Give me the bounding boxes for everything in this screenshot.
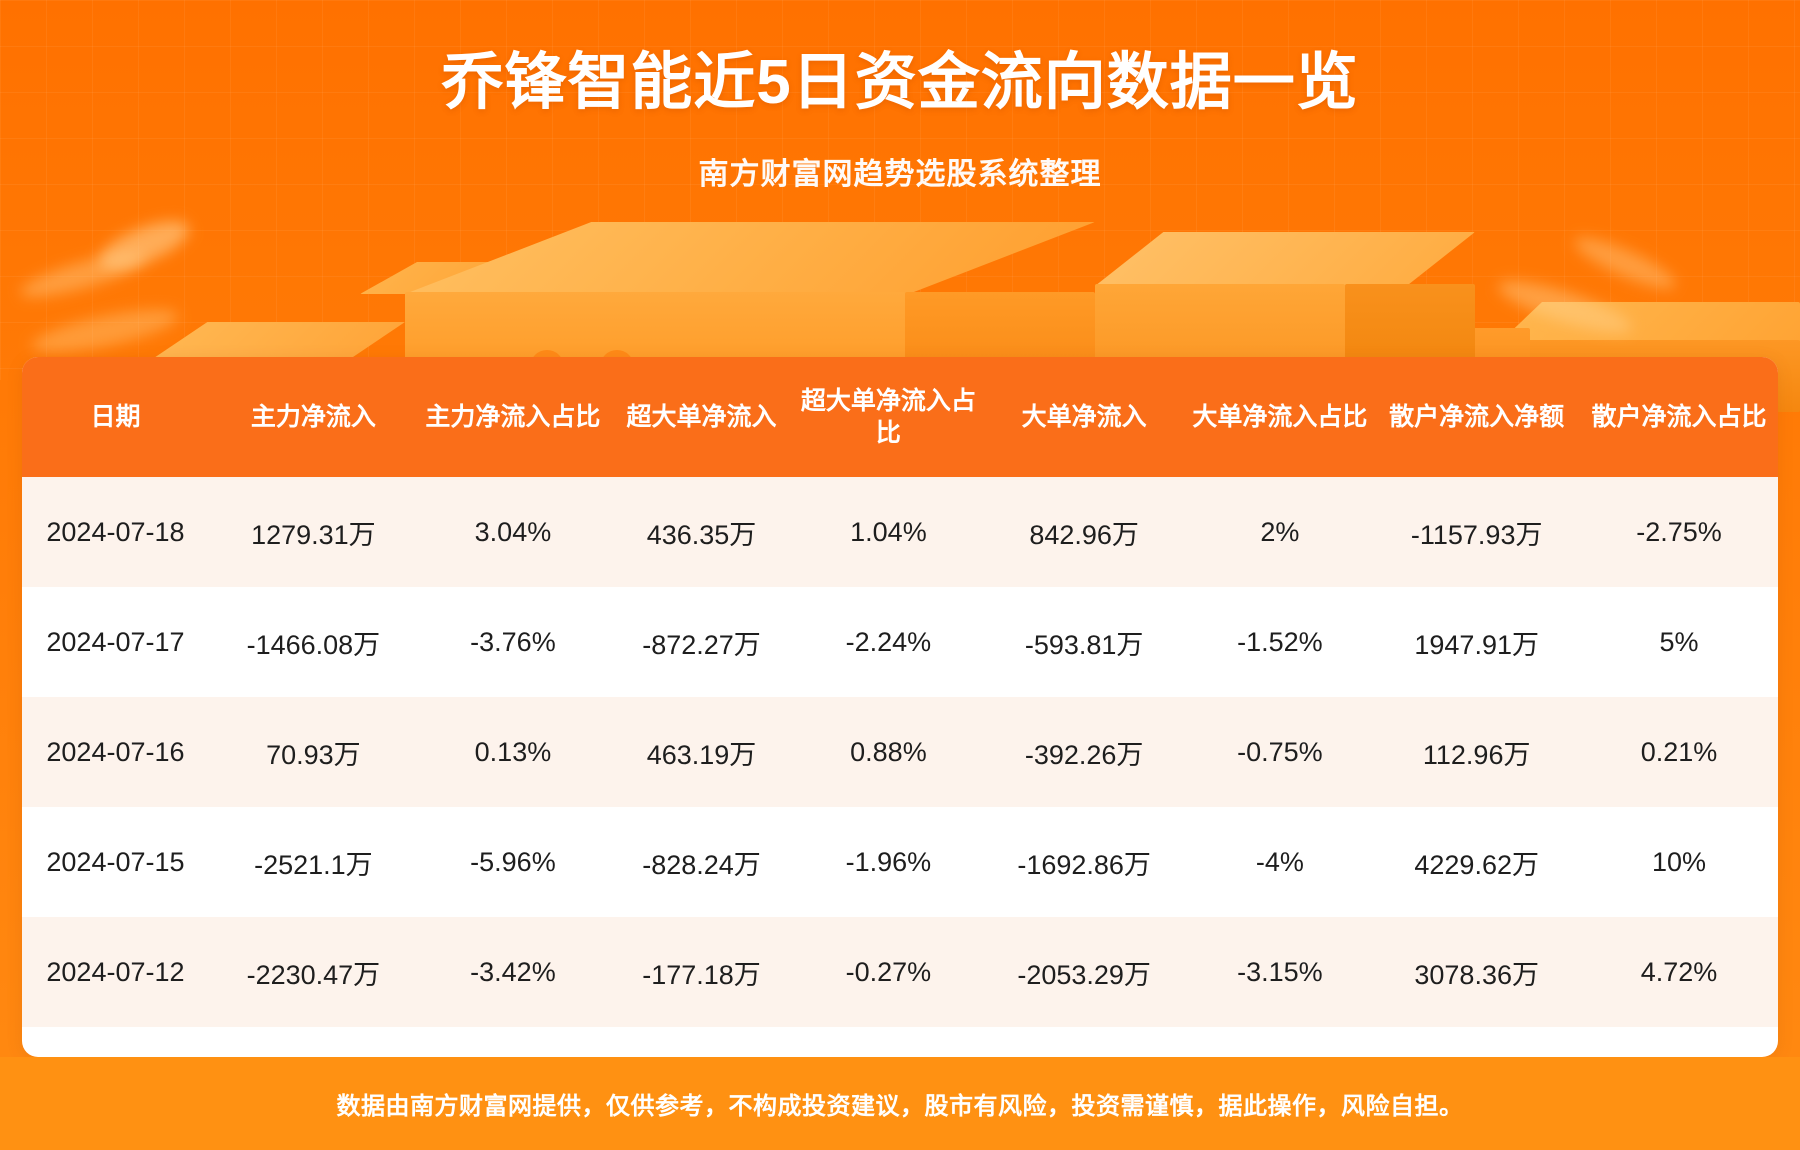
column-header-main-net: 主力净流入 (209, 357, 418, 477)
column-header-xl-pct: 超大单净流入占比 (795, 357, 982, 477)
cell-xl-net: 436.35万 (608, 477, 795, 587)
cell-date: 2024-07-16 (22, 697, 209, 807)
cell-retail-net: 3078.36万 (1373, 917, 1580, 1027)
hero-section: 乔锋智能近5日资金流向数据一览 南方财富网趋势选股系统整理 (0, 0, 1800, 193)
data-table-card: 南方财富网 Southmoney.com 日期 主力净流入 主力净流入占比 超大… (22, 357, 1778, 1057)
cell-big-pct: -0.75% (1186, 697, 1373, 807)
cell-big-pct: -4% (1186, 807, 1373, 917)
cell-xl-net: -177.18万 (608, 917, 795, 1027)
cell-main-pct: 3.04% (418, 477, 608, 587)
cell-xl-pct: -0.27% (795, 917, 982, 1027)
cell-xl-pct: 0.88% (795, 697, 982, 807)
column-header-retail-pct: 散户净流入占比 (1580, 357, 1778, 477)
cell-big-net: 842.96万 (982, 477, 1187, 587)
light-streak-3 (29, 301, 182, 362)
cell-main-net: -2230.47万 (209, 917, 418, 1027)
cell-big-net: -1692.86万 (982, 807, 1187, 917)
cell-big-pct: 2% (1186, 477, 1373, 587)
podium-block-right-top (1095, 232, 1475, 286)
cell-date: 2024-07-18 (22, 477, 209, 587)
column-header-big-net: 大单净流入 (982, 357, 1187, 477)
column-header-big-pct: 大单净流入占比 (1186, 357, 1373, 477)
cell-big-net: -593.81万 (982, 587, 1187, 697)
cell-xl-net: 463.19万 (608, 697, 795, 807)
column-header-main-pct: 主力净流入占比 (418, 357, 608, 477)
cell-xl-net: -828.24万 (608, 807, 795, 917)
fund-flow-table: 日期 主力净流入 主力净流入占比 超大单净流入 超大单净流入占比 大单净流入 大… (22, 357, 1778, 1027)
cell-main-net: -2521.1万 (209, 807, 418, 917)
cell-retail-net: 112.96万 (1373, 697, 1580, 807)
table-row: 2024-07-16 70.93万 0.13% 463.19万 0.88% -3… (22, 697, 1778, 807)
cell-retail-pct: 5% (1580, 587, 1778, 697)
cell-retail-net: -1157.93万 (1373, 477, 1580, 587)
cell-xl-pct: 1.04% (795, 477, 982, 587)
footer-bar: 数据由南方财富网提供，仅供参考，不构成投资建议，股市有风险，投资需谨慎，据此操作… (0, 1057, 1800, 1150)
cell-xl-net: -872.27万 (608, 587, 795, 697)
cell-retail-net: 1947.91万 (1373, 587, 1580, 697)
table-row: 2024-07-17 -1466.08万 -3.76% -872.27万 -2.… (22, 587, 1778, 697)
table-row: 2024-07-15 -2521.1万 -5.96% -828.24万 -1.9… (22, 807, 1778, 917)
light-streak-2 (17, 245, 149, 306)
cell-main-net: 1279.31万 (209, 477, 418, 587)
cell-xl-pct: -2.24% (795, 587, 982, 697)
cell-retail-pct: 10% (1580, 807, 1778, 917)
cell-main-pct: -5.96% (418, 807, 608, 917)
cell-main-pct: 0.13% (418, 697, 608, 807)
cell-main-pct: -3.42% (418, 917, 608, 1027)
cell-xl-pct: -1.96% (795, 807, 982, 917)
cell-date: 2024-07-17 (22, 587, 209, 697)
page-title: 乔锋智能近5日资金流向数据一览 (0, 0, 1800, 119)
cell-retail-pct: 0.21% (1580, 697, 1778, 807)
column-header-date: 日期 (22, 357, 209, 477)
cell-date: 2024-07-15 (22, 807, 209, 917)
cell-big-net: -392.26万 (982, 697, 1187, 807)
cell-main-net: -1466.08万 (209, 587, 418, 697)
cell-big-pct: -1.52% (1186, 587, 1373, 697)
footer-disclaimer: 数据由南方财富网提供，仅供参考，不构成投资建议，股市有风险，投资需谨慎，据此操作… (337, 1086, 1464, 1121)
cell-date: 2024-07-12 (22, 917, 209, 1027)
cell-main-pct: -3.76% (418, 587, 608, 697)
light-streak-5 (1569, 229, 1680, 297)
infographic-page: 乔锋智能近5日资金流向数据一览 南方财富网趋势选股系统整理 南方财富网 Sout… (0, 0, 1800, 1150)
podium-block-center-top (405, 222, 1095, 294)
cell-retail-net: 4229.62万 (1373, 807, 1580, 917)
page-subtitle: 南方财富网趋势选股系统整理 (0, 119, 1800, 193)
cell-retail-pct: -2.75% (1580, 477, 1778, 587)
podium-block-far-right-top (1500, 302, 1800, 342)
cell-big-net: -2053.29万 (982, 917, 1187, 1027)
table-header: 日期 主力净流入 主力净流入占比 超大单净流入 超大单净流入占比 大单净流入 大… (22, 357, 1778, 477)
column-header-xl-net: 超大单净流入 (608, 357, 795, 477)
table-body: 2024-07-18 1279.31万 3.04% 436.35万 1.04% … (22, 477, 1778, 1027)
cell-big-pct: -3.15% (1186, 917, 1373, 1027)
podium-block-mid-riser (360, 262, 550, 294)
light-streak-1 (93, 211, 195, 278)
column-header-retail-net: 散户净流入净额 (1373, 357, 1580, 477)
table-row: 2024-07-18 1279.31万 3.04% 436.35万 1.04% … (22, 477, 1778, 587)
cell-retail-pct: 4.72% (1580, 917, 1778, 1027)
table-row: 2024-07-12 -2230.47万 -3.42% -177.18万 -0.… (22, 917, 1778, 1027)
light-streak-4 (1494, 271, 1636, 343)
cell-main-net: 70.93万 (209, 697, 418, 807)
table-header-row: 日期 主力净流入 主力净流入占比 超大单净流入 超大单净流入占比 大单净流入 大… (22, 357, 1778, 477)
